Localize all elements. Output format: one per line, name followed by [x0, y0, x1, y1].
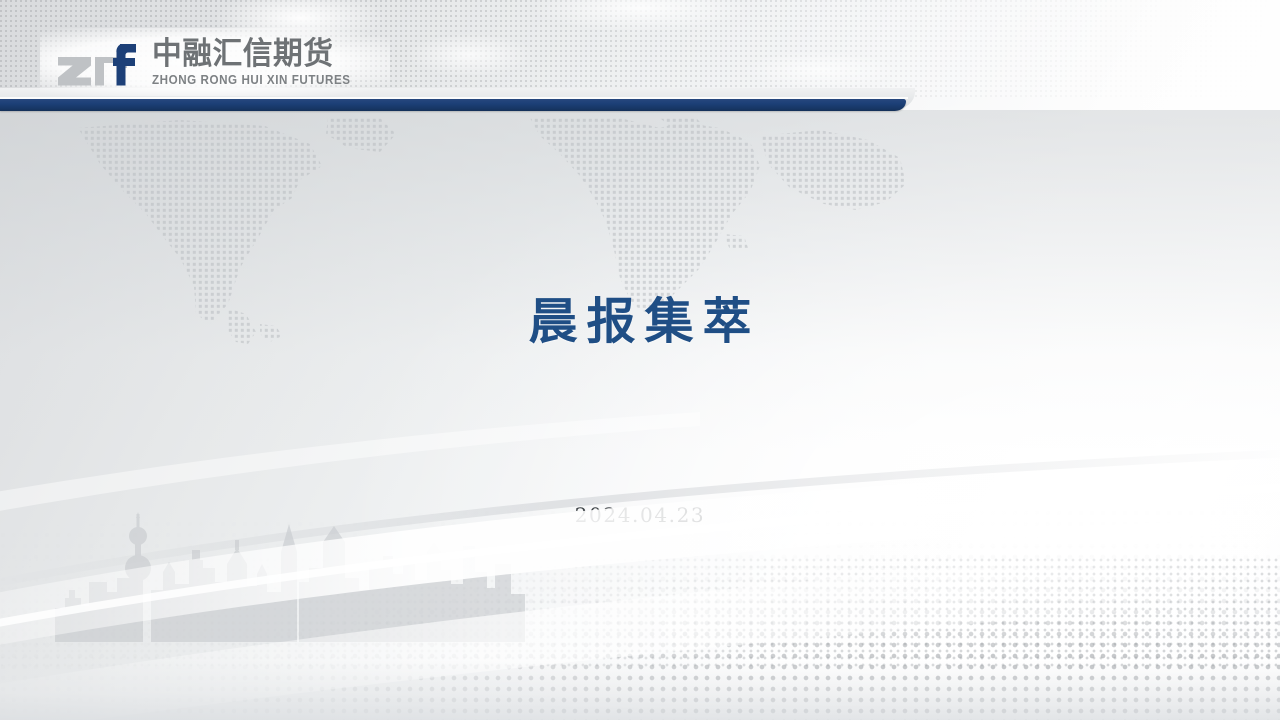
- floor-shadow: [0, 660, 1280, 720]
- logo-wordmark: 中融汇信期货 ZHONG RONG HUI XIN FUTURES: [152, 36, 366, 88]
- slide-title: 晨报集萃: [0, 282, 1280, 353]
- title-slide: 中融汇信期货 ZHONG RONG HUI XIN FUTURES 晨报集萃 2…: [0, 0, 1280, 720]
- header-band-navy: [0, 99, 906, 111]
- logo-name-en: ZHONG RONG HUI XIN FUTURES: [152, 74, 351, 88]
- city-skyline-icon: [55, 512, 525, 642]
- logo-name-cn: 中融汇信期货: [152, 38, 357, 71]
- company-logo: 中融汇信期货 ZHONG RONG HUI XIN FUTURES: [58, 36, 378, 98]
- zrf-monogram-icon: [58, 36, 144, 92]
